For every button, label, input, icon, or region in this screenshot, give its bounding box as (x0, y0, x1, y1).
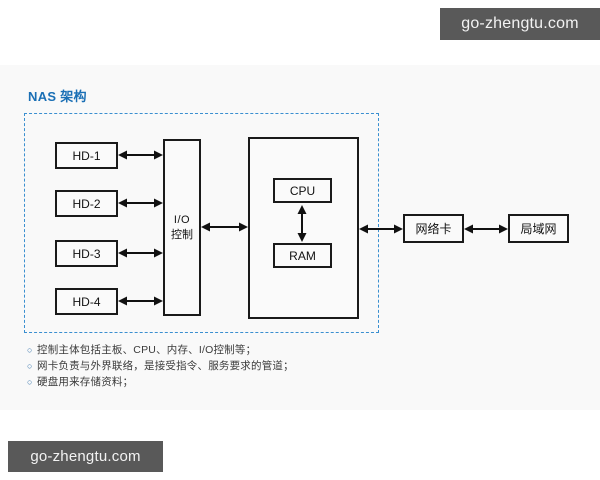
arrow-cpu-to-ram (296, 205, 308, 242)
note-item: ○ 控制主体包括主板、CPU、内存、I/O控制等； (27, 343, 457, 357)
note-text: 网卡负责与外界联络，是接受指令、服务要求的管道； (37, 359, 294, 373)
cpu-box: CPU (273, 178, 332, 203)
network-card-box: 网络卡 (403, 214, 464, 243)
io-controller-box: I/O 控制 (163, 139, 201, 316)
screenshot-canvas: go-zhengtu.com NAS 架构 HD-1 HD-2 HD-3 HD-… (0, 0, 600, 480)
arrow-nic-to-lan (464, 223, 508, 235)
watermark-top: go-zhengtu.com (440, 8, 600, 40)
bullet-circle-icon: ○ (27, 359, 37, 373)
arrow-hd1-to-io (118, 149, 163, 161)
io-controller-label-line1: I/O (174, 213, 190, 228)
bullet-circle-icon: ○ (27, 375, 37, 389)
notes-list: ○ 控制主体包括主板、CPU、内存、I/O控制等； ○ 网卡负责与外界联络，是接… (27, 343, 457, 391)
hd-2-box: HD-2 (55, 190, 118, 217)
arrow-main-unit-to-nic (359, 223, 403, 235)
hd-1-box: HD-1 (55, 142, 118, 169)
arrow-hd3-to-io (118, 247, 163, 259)
note-text: 控制主体包括主板、CPU、内存、I/O控制等； (37, 343, 256, 357)
lan-box: 局域网 (508, 214, 569, 243)
watermark-bottom: go-zhengtu.com (8, 441, 163, 472)
ram-box: RAM (273, 243, 332, 268)
arrow-io-to-main-unit (201, 221, 248, 233)
note-item: ○ 网卡负责与外界联络，是接受指令、服务要求的管道； (27, 359, 457, 373)
io-controller-label-line2: 控制 (171, 228, 193, 243)
hd-3-box: HD-3 (55, 240, 118, 267)
arrow-hd2-to-io (118, 197, 163, 209)
bullet-circle-icon: ○ (27, 343, 37, 357)
note-item: ○ 硬盘用来存储资料； (27, 375, 457, 389)
note-text: 硬盘用来存储资料； (37, 375, 133, 389)
arrow-hd4-to-io (118, 295, 163, 307)
page-title: NAS 架构 (28, 86, 87, 105)
hd-4-box: HD-4 (55, 288, 118, 315)
